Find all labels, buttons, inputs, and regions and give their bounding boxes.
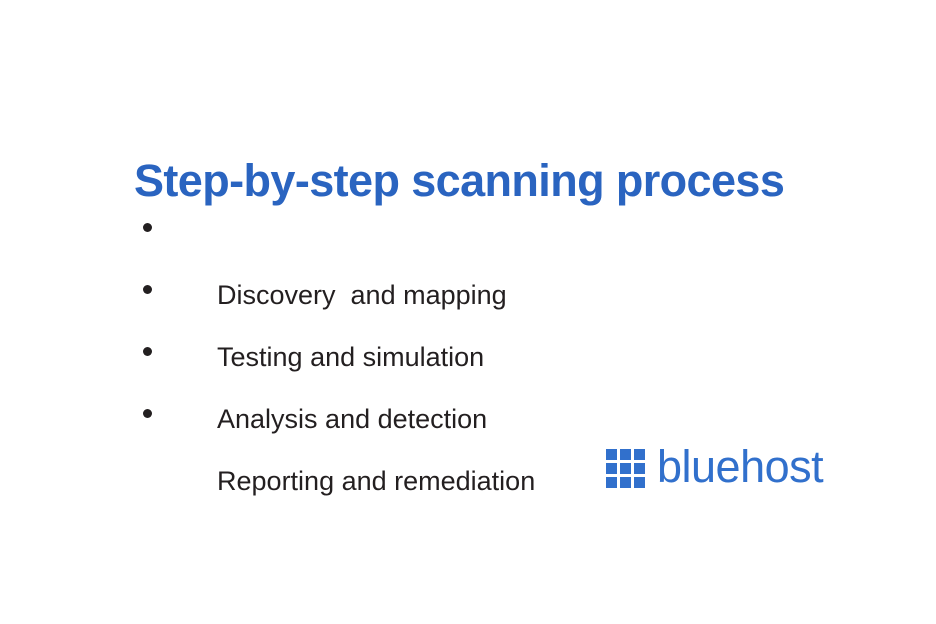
list-item-label: Reporting and remediation bbox=[217, 464, 535, 498]
grid-cell bbox=[620, 477, 631, 488]
grid-3x3-icon bbox=[606, 449, 645, 488]
grid-cell bbox=[634, 463, 645, 474]
list-item: Testing and simulation bbox=[138, 272, 698, 334]
bluehost-logo: bluehost bbox=[606, 444, 823, 490]
bullet-dot-icon bbox=[143, 409, 152, 418]
bullet-dot-icon bbox=[143, 285, 152, 294]
grid-cell bbox=[634, 449, 645, 460]
grid-cell bbox=[620, 463, 631, 474]
slide: Step-by-step scanning process Discovery … bbox=[0, 0, 936, 624]
logo-wordmark: bluehost bbox=[657, 444, 823, 490]
grid-cell bbox=[620, 449, 631, 460]
list-item: Analysis and detection bbox=[138, 334, 698, 396]
grid-cell bbox=[606, 449, 617, 460]
grid-cell bbox=[634, 477, 645, 488]
grid-cell bbox=[606, 477, 617, 488]
bullet-dot-icon bbox=[143, 223, 152, 232]
page-title: Step-by-step scanning process bbox=[134, 154, 834, 208]
bullet-dot-icon bbox=[143, 347, 152, 356]
grid-cell bbox=[606, 463, 617, 474]
list-item: Discovery and mapping bbox=[138, 210, 698, 272]
bullet-list: Discovery and mapping Testing and simula… bbox=[138, 210, 698, 458]
